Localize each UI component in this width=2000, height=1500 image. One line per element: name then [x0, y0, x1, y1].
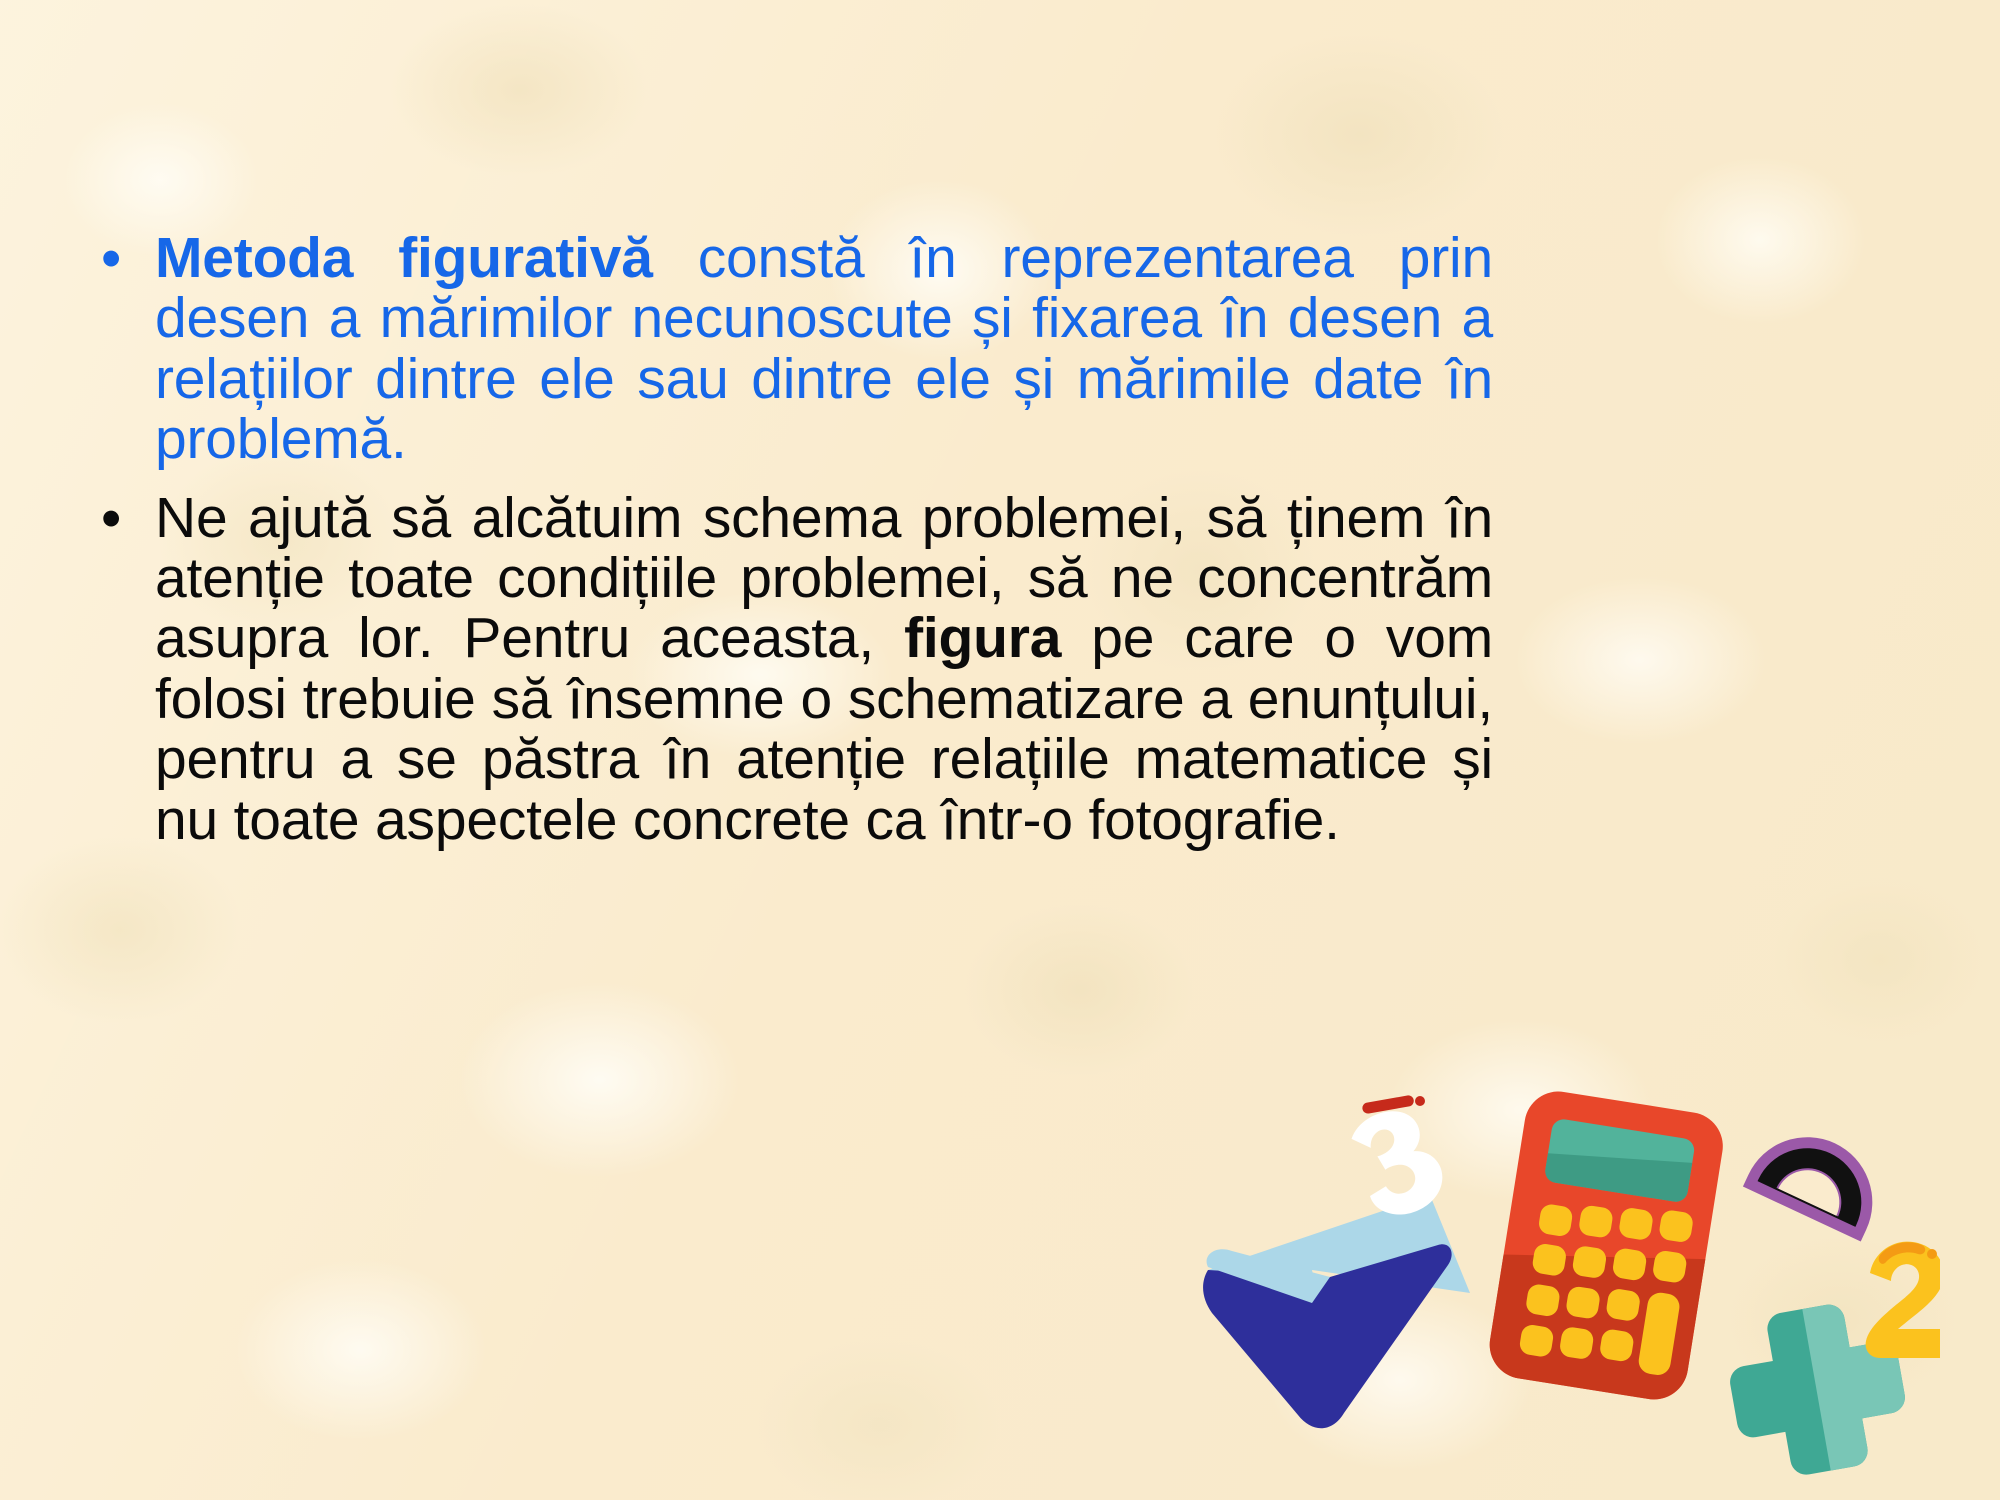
- slide-body-text: • Metoda figurativă constă în reprezenta…: [93, 228, 1493, 868]
- bullet-lead-bold: Metoda figurativă: [155, 226, 653, 290]
- bullet-text-2: Ne ajută să alcătuim schema problemei, s…: [155, 488, 1493, 850]
- numeral-two-icon: [1866, 1242, 1940, 1358]
- protractor-icon: [1743, 1116, 1894, 1242]
- numeral-three-icon: [1347, 1095, 1451, 1223]
- math-supplies-illustration: [1180, 1055, 1940, 1485]
- slide-canvas: • Metoda figurativă constă în reprezenta…: [0, 0, 2000, 1500]
- bullet-marker: •: [93, 488, 155, 549]
- bullet-inline-bold: figura: [904, 606, 1061, 670]
- bullet-text-1: Metoda figurativă constă în reprezentare…: [155, 228, 1493, 470]
- triangle-ruler-icon: [1203, 1195, 1470, 1428]
- bullet-item-2: • Ne ajută să alcătuim schema problemei,…: [93, 488, 1493, 850]
- bullet-item-1: • Metoda figurativă constă în reprezenta…: [93, 228, 1493, 470]
- calculator-icon: [1485, 1087, 1728, 1405]
- bullet-marker: •: [93, 228, 155, 289]
